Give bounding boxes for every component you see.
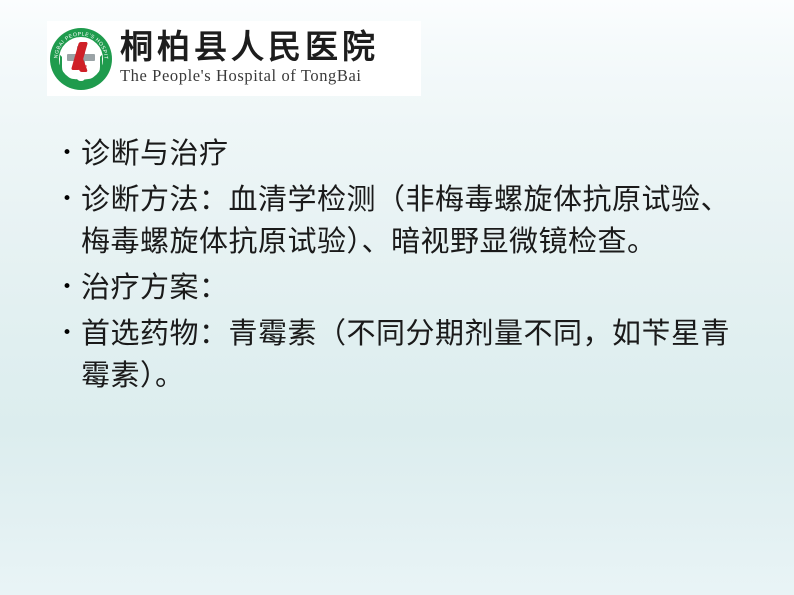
hospital-name-cn: 桐柏县人民医院 xyxy=(120,31,379,66)
presentation-slide: 1952 TONGBAI PEOPLE'S HOSPITAL 桐柏县人民医院 桐… xyxy=(0,0,794,595)
list-item: • 诊断与治疗 xyxy=(55,132,755,174)
bullet-marker-icon: • xyxy=(55,312,81,354)
logo-wordmark: 桐柏县人民医院 The People's Hospital of TongBai xyxy=(120,31,379,86)
emblem-ring-text-top: TONGBAI PEOPLE'S HOSPITAL xyxy=(50,28,109,60)
slide-body-bullet-list: • 诊断与治疗 • 诊断方法：血清学检测（非梅毒螺旋体抗原试验、梅毒螺旋体抗原试… xyxy=(55,132,755,400)
list-item-text: 治疗方案： xyxy=(81,266,755,308)
list-item-text: 诊断方法：血清学检测（非梅毒螺旋体抗原试验、梅毒螺旋体抗原试验）、暗视野显微镜检… xyxy=(81,178,755,262)
emblem-ring-text-bottom: 桐柏县人民医院 xyxy=(67,72,95,81)
list-item-text: 诊断与治疗 xyxy=(81,132,755,174)
list-item: • 诊断方法：血清学检测（非梅毒螺旋体抗原试验、梅毒螺旋体抗原试验）、暗视野显微… xyxy=(55,178,755,262)
bullet-marker-icon: • xyxy=(55,132,81,174)
list-item-text: 首选药物：青霉素（不同分期剂量不同，如苄星青霉素）。 xyxy=(81,312,755,396)
hospital-logo-lockup: 1952 TONGBAI PEOPLE'S HOSPITAL 桐柏县人民医院 桐… xyxy=(47,21,421,96)
list-item: • 首选药物：青霉素（不同分期剂量不同，如苄星青霉素）。 xyxy=(55,312,755,396)
list-item: • 治疗方案： xyxy=(55,266,755,308)
emblem-ring-text: TONGBAI PEOPLE'S HOSPITAL 桐柏县人民医院 xyxy=(50,28,112,90)
bullet-marker-icon: • xyxy=(55,178,81,220)
hospital-emblem-icon: 1952 TONGBAI PEOPLE'S HOSPITAL 桐柏县人民医院 xyxy=(50,28,112,90)
hospital-name-en: The People's Hospital of TongBai xyxy=(120,67,379,86)
bullet-marker-icon: • xyxy=(55,266,81,308)
